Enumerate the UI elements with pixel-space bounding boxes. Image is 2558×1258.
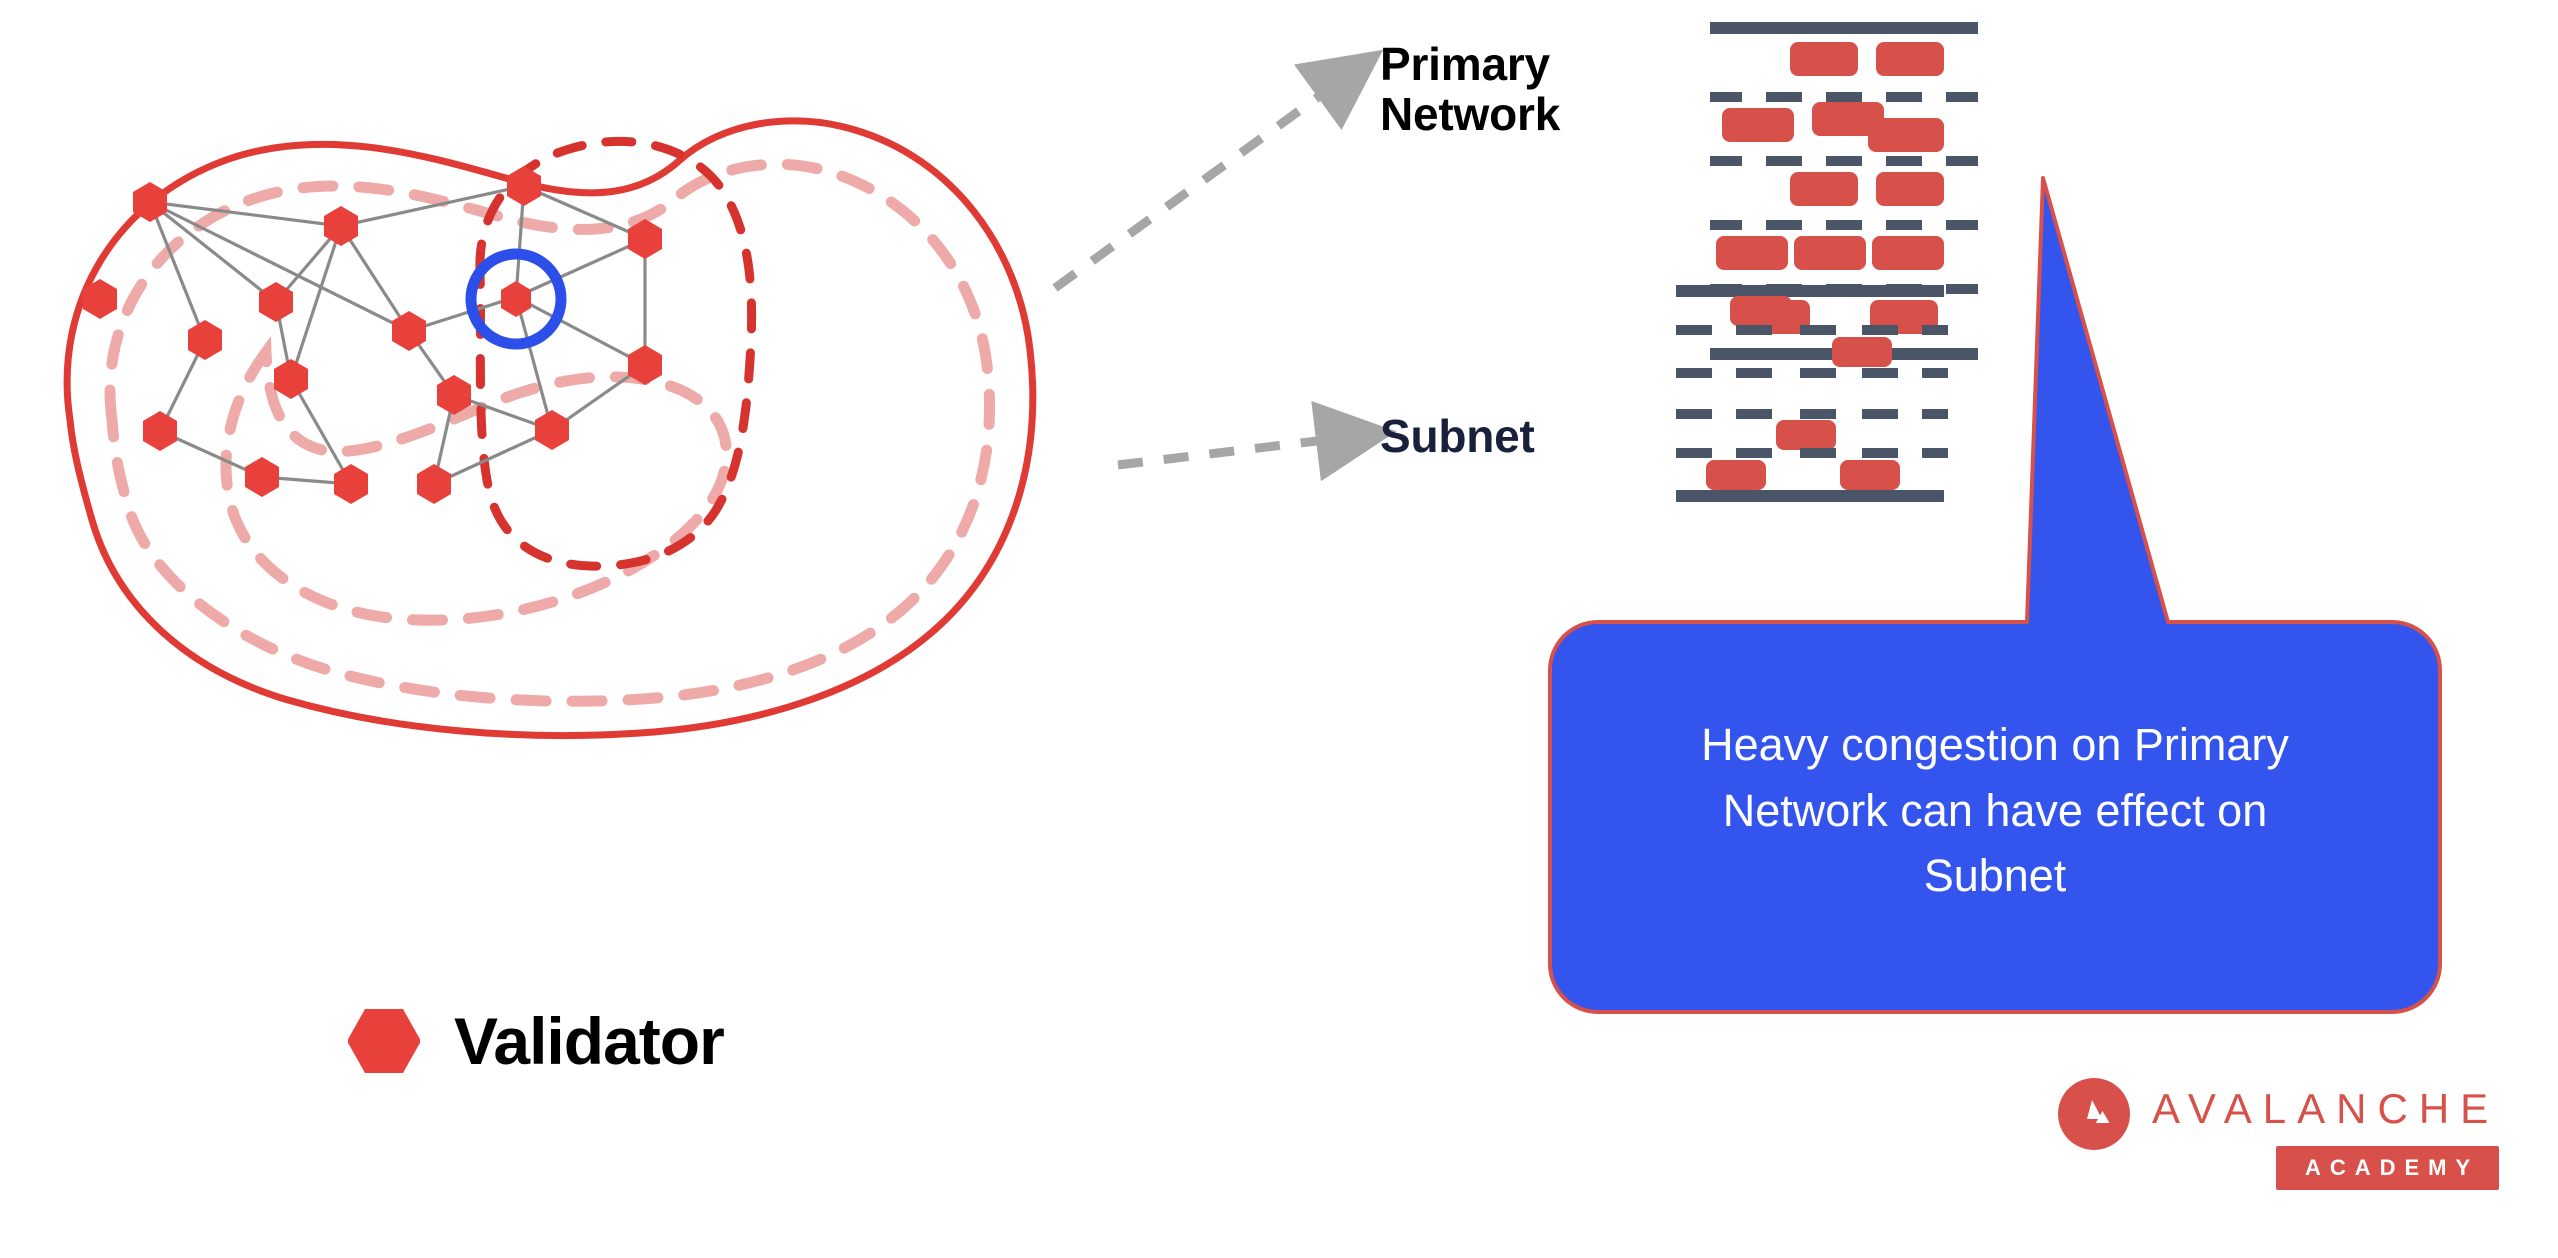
- legend-label: Validator: [454, 1003, 724, 1079]
- legend: Validator: [348, 1000, 724, 1082]
- subnet-label: Subnet: [1380, 412, 1535, 462]
- primary-network-label: Primary Network: [1380, 40, 1560, 139]
- avalanche-wordmark: AVALANCHE: [2152, 1078, 2499, 1130]
- diagram-canvas: Heavy congestion on Primary Network can …: [0, 0, 2558, 1258]
- academy-badge: ACADEMY: [2276, 1146, 2499, 1190]
- avalanche-logo-icon: [2058, 1078, 2130, 1150]
- validator-hexagon-icon: [348, 1000, 420, 1082]
- callout-text: Heavy congestion on Primary Network can …: [1578, 712, 2412, 909]
- avalanche-academy-brand: AVALANCHE ACADEMY: [2058, 1078, 2499, 1190]
